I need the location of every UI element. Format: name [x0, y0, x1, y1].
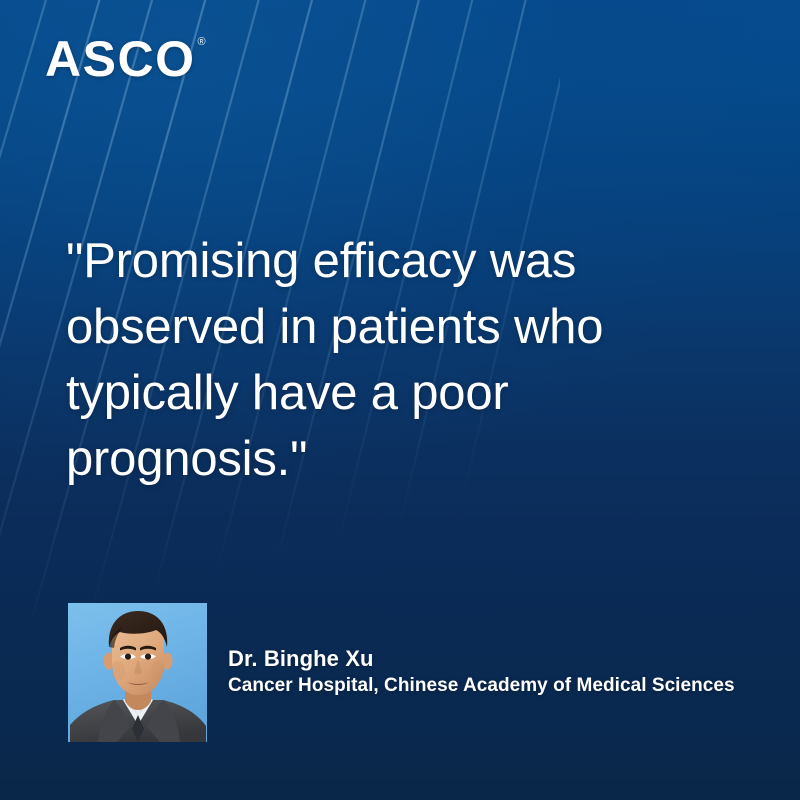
speaker-portrait-photo	[68, 603, 207, 742]
attribution-text: Dr. Binghe Xu Cancer Hospital, Chinese A…	[228, 603, 735, 699]
registered-trademark-icon: ®	[197, 37, 205, 48]
quote-card: ASCO ® "Promising efficacy was observed …	[0, 0, 800, 800]
quote-line-1: "Promising efficacy was	[66, 228, 726, 294]
quote-text: "Promising efficacy was observed in pati…	[66, 228, 726, 492]
quote-line-3: typically have a poor	[66, 360, 726, 426]
speaker-affiliation: Cancer Hospital, Chinese Academy of Medi…	[228, 673, 735, 699]
asco-logo-wordmark: ASCO	[45, 34, 195, 84]
asco-logo: ASCO ®	[45, 34, 206, 84]
quote-line-2: observed in patients who	[66, 294, 726, 360]
speaker-name: Dr. Binghe Xu	[228, 645, 735, 673]
attribution-block: Dr. Binghe Xu Cancer Hospital, Chinese A…	[68, 603, 735, 742]
quote-line-4: prognosis."	[66, 426, 726, 492]
